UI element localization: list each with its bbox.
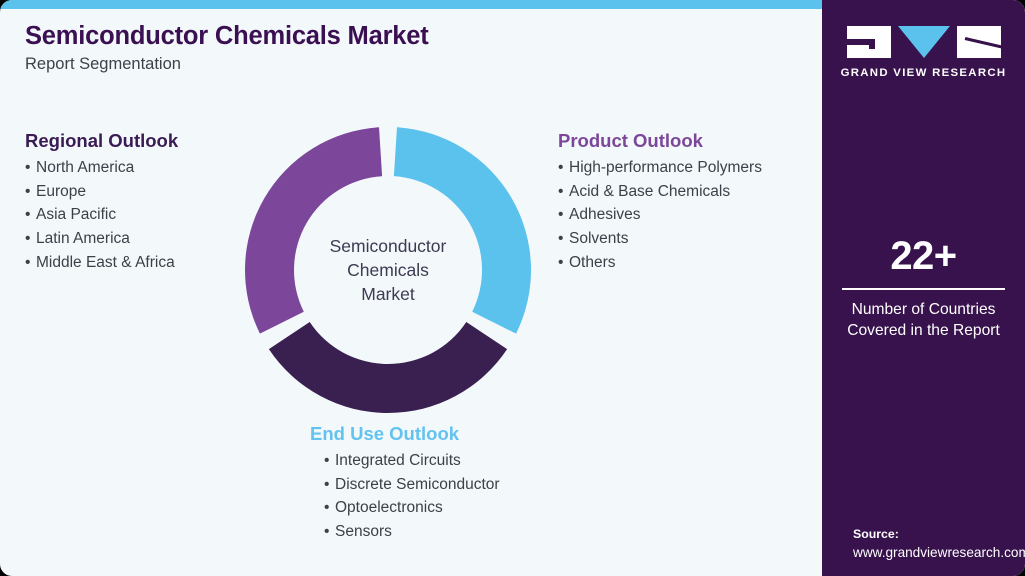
list-item: •Sensors bbox=[310, 520, 500, 544]
end-use-outlook-section: End Use Outlook •Integrated Circuits •Di… bbox=[310, 423, 500, 544]
stat-divider bbox=[842, 288, 1005, 290]
donut-segments bbox=[243, 126, 533, 414]
donut-segment-regional bbox=[261, 243, 508, 414]
logo-g-notch-vertical bbox=[869, 39, 875, 49]
product-outlook-list: •High-performance Polymers •Acid & Base … bbox=[558, 156, 762, 274]
bullet-icon: • bbox=[324, 520, 335, 544]
bullet-icon: • bbox=[558, 156, 569, 180]
bullet-icon: • bbox=[324, 473, 335, 497]
source-url[interactable]: www.grandviewresearch.com bbox=[853, 543, 1019, 562]
logo-v-triangle bbox=[898, 26, 950, 58]
bullet-icon: • bbox=[25, 156, 36, 180]
list-item-label: Optoelectronics bbox=[335, 499, 443, 516]
product-outlook-section: Product Outlook •High-performance Polyme… bbox=[558, 130, 762, 274]
logo-letter-v-icon bbox=[898, 26, 950, 58]
list-item-label: Asia Pacific bbox=[36, 206, 116, 223]
stat-label: Number of Countries Covered in the Repor… bbox=[836, 299, 1011, 341]
donut-segment-product bbox=[243, 126, 403, 347]
bullet-icon: • bbox=[558, 227, 569, 251]
regional-outlook-heading: Regional Outlook bbox=[25, 130, 178, 152]
bullet-icon: • bbox=[324, 449, 335, 473]
list-item: •Europe bbox=[25, 180, 178, 204]
list-item-label: Integrated Circuits bbox=[335, 452, 461, 469]
logo-r-slash bbox=[964, 37, 1000, 49]
stat-label-line2: Covered in the Report bbox=[836, 320, 1011, 341]
logo-letter-g-icon bbox=[847, 26, 891, 58]
regional-outlook-section: Regional Outlook •North America •Europe … bbox=[25, 130, 178, 274]
list-item-label: High-performance Polymers bbox=[569, 159, 762, 176]
infographic-card: Semiconductor Chemicals Market Report Se… bbox=[0, 0, 1025, 576]
list-item: •Asia Pacific bbox=[25, 203, 178, 227]
list-item: •Latin America bbox=[25, 227, 178, 251]
list-item: •North America bbox=[25, 156, 178, 180]
bullet-icon: • bbox=[25, 203, 36, 227]
list-item-label: Middle East & Africa bbox=[36, 254, 175, 271]
product-outlook-heading: Product Outlook bbox=[558, 130, 762, 152]
bullet-icon: • bbox=[25, 180, 36, 204]
list-item: •Acid & Base Chemicals bbox=[558, 180, 762, 204]
countries-stat: 22+ Number of Countries Covered in the R… bbox=[836, 236, 1011, 341]
list-item-label: Europe bbox=[36, 183, 86, 200]
brand-panel: GRAND VIEW RESEARCH 22+ Number of Countr… bbox=[822, 0, 1025, 576]
list-item-label: Latin America bbox=[36, 230, 130, 247]
list-item-label: Acid & Base Chemicals bbox=[569, 183, 730, 200]
bullet-icon: • bbox=[25, 227, 36, 251]
list-item: •High-performance Polymers bbox=[558, 156, 762, 180]
list-item: •Others bbox=[558, 251, 762, 275]
source-label: Source: bbox=[853, 526, 1019, 543]
logo-letter-r-icon bbox=[957, 26, 1001, 58]
logo-marks bbox=[822, 26, 1025, 58]
top-accent-bar bbox=[0, 0, 824, 9]
page-subtitle: Report Segmentation bbox=[25, 55, 725, 75]
page-title: Semiconductor Chemicals Market bbox=[25, 22, 725, 51]
list-item-label: Adhesives bbox=[569, 206, 641, 223]
list-item-label: Discrete Semiconductor bbox=[335, 476, 500, 493]
list-item: •Discrete Semiconductor bbox=[310, 473, 500, 497]
stat-number: 22+ bbox=[836, 236, 1011, 276]
logo-wordmark: GRAND VIEW RESEARCH bbox=[822, 67, 1025, 79]
bullet-icon: • bbox=[558, 180, 569, 204]
list-item-label: Solvents bbox=[569, 230, 628, 247]
end-use-outlook-heading: End Use Outlook bbox=[310, 423, 500, 445]
list-item: •Adhesives bbox=[558, 203, 762, 227]
stat-label-line1: Number of Countries bbox=[836, 299, 1011, 320]
list-item: •Integrated Circuits bbox=[310, 449, 500, 473]
donut-chart-svg bbox=[243, 126, 533, 414]
bullet-icon: • bbox=[324, 496, 335, 520]
end-use-outlook-list: •Integrated Circuits •Discrete Semicondu… bbox=[310, 449, 500, 543]
regional-outlook-list: •North America •Europe •Asia Pacific •La… bbox=[25, 156, 178, 274]
source-block: Source: www.grandviewresearch.com bbox=[830, 526, 1019, 562]
list-item: •Solvents bbox=[558, 227, 762, 251]
header: Semiconductor Chemicals Market Report Se… bbox=[25, 22, 725, 75]
bullet-icon: • bbox=[25, 251, 36, 275]
donut-chart: Semiconductor Chemicals Market bbox=[243, 126, 533, 414]
list-item: •Optoelectronics bbox=[310, 496, 500, 520]
list-item: •Middle East & Africa bbox=[25, 251, 178, 275]
list-item-label: Others bbox=[569, 254, 616, 271]
bullet-icon: • bbox=[558, 251, 569, 275]
bullet-icon: • bbox=[558, 203, 569, 227]
gvr-logo: GRAND VIEW RESEARCH bbox=[822, 26, 1025, 79]
list-item-label: Sensors bbox=[335, 523, 392, 540]
list-item-label: North America bbox=[36, 159, 134, 176]
